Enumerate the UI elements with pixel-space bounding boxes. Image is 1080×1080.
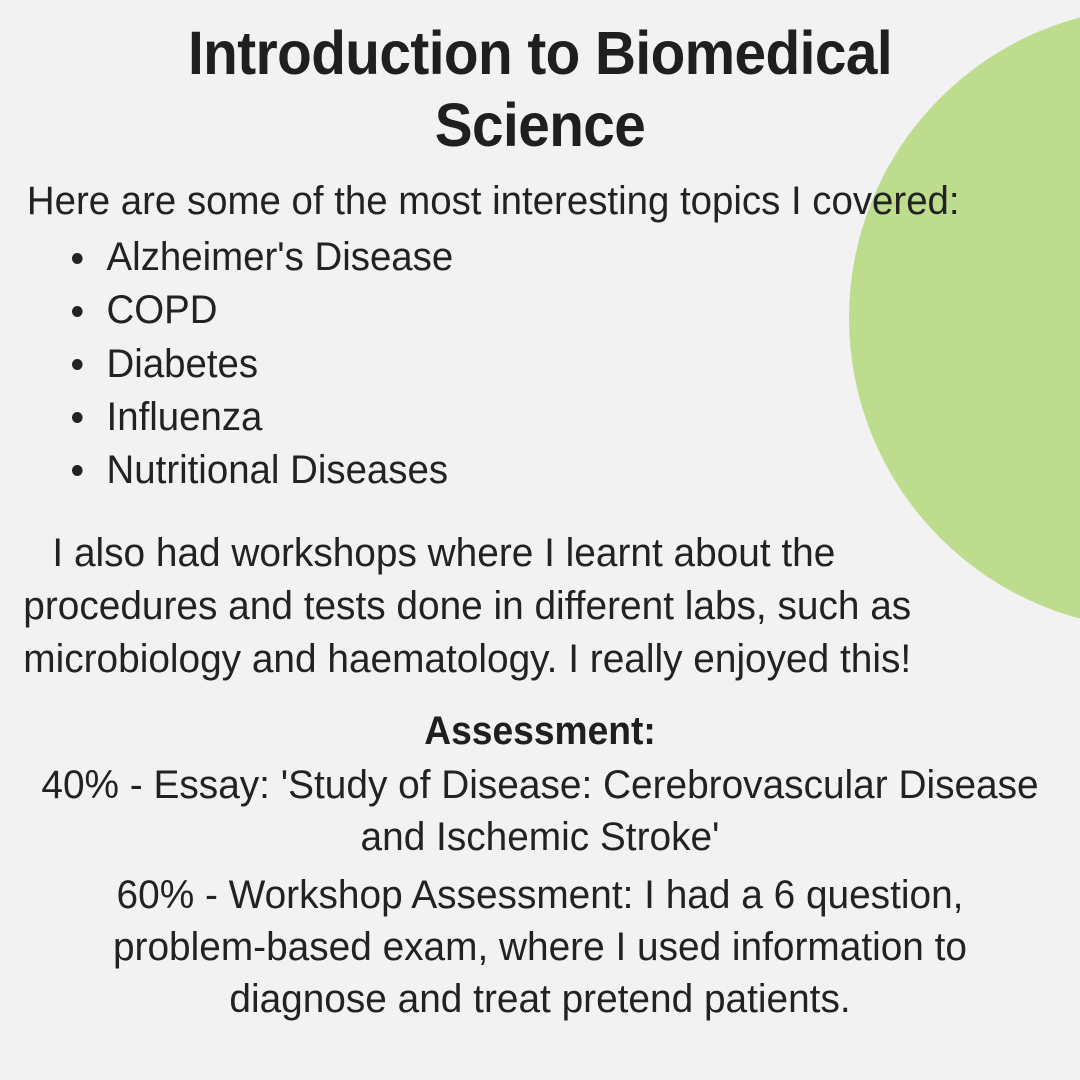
list-item: COPD xyxy=(72,284,1040,337)
bullet-icon xyxy=(72,253,83,264)
topic-label: Diabetes xyxy=(107,342,259,386)
page-title: Introduction to Biomedical Science xyxy=(38,0,1042,162)
topic-label: COPD xyxy=(107,288,218,332)
list-item: Alzheimer's Disease xyxy=(72,231,1040,284)
slide-content: Introduction to Biomedical Science Here … xyxy=(0,0,1080,1080)
topics-list: Alzheimer's Disease COPD Diabetes Influe… xyxy=(0,231,1080,497)
bullet-icon xyxy=(72,465,83,476)
list-item: Influenza xyxy=(72,391,1040,444)
bullet-icon xyxy=(72,359,83,370)
topic-label: Nutritional Diseases xyxy=(107,448,448,492)
topic-label: Alzheimer's Disease xyxy=(107,235,454,279)
list-item: Nutritional Diseases xyxy=(72,444,1040,497)
slide: Introduction to Biomedical Science Here … xyxy=(0,0,1080,1080)
assessment-heading: Assessment: xyxy=(38,707,1042,755)
assessment-item-workshop: 60% - Workshop Assessment: I had a 6 que… xyxy=(16,869,1064,1025)
workshops-paragraph: I also had workshops where I learnt abou… xyxy=(0,527,1048,685)
assessment-item-essay: 40% - Essay: 'Study of Disease: Cerebrov… xyxy=(16,759,1064,863)
topic-label: Influenza xyxy=(107,395,263,439)
bullet-icon xyxy=(72,306,83,317)
list-item: Diabetes xyxy=(72,338,1040,391)
bullet-icon xyxy=(72,412,83,423)
intro-text: Here are some of the most interesting to… xyxy=(0,176,1037,227)
